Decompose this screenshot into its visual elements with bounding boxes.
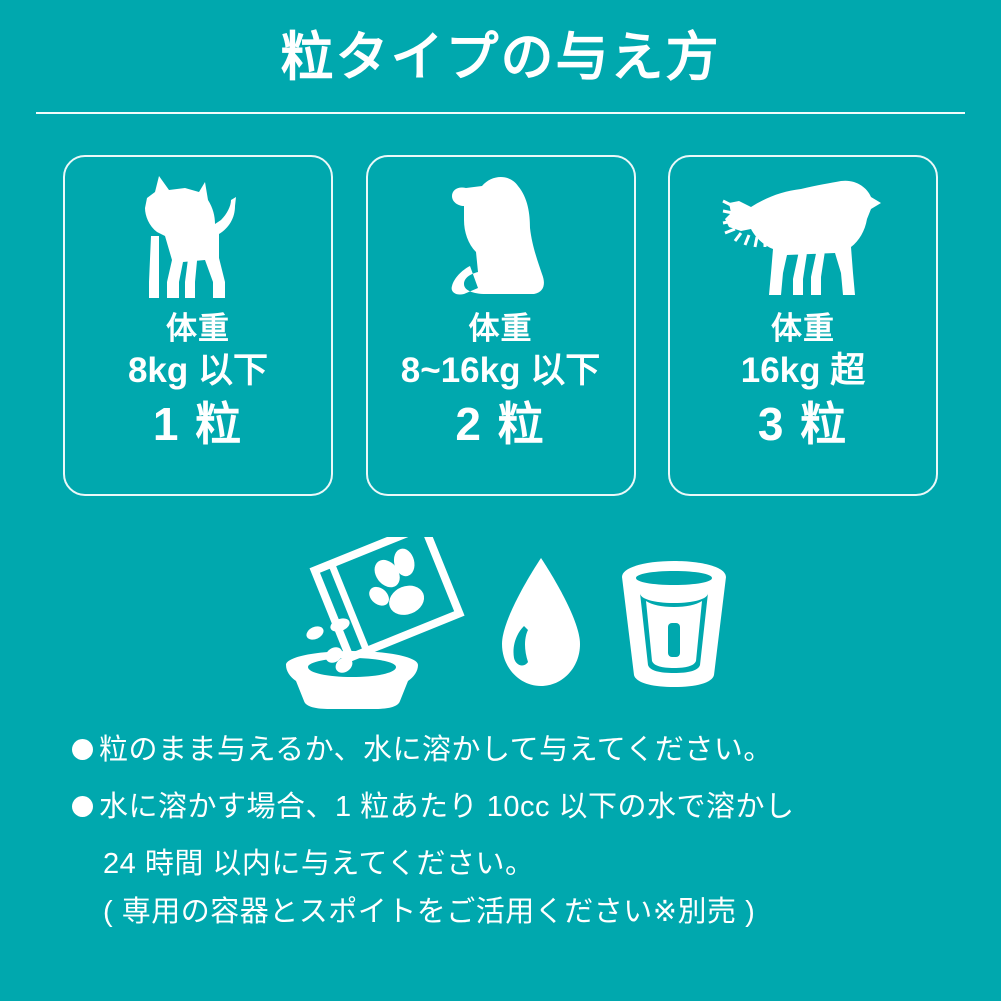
card-label: 体重 [771, 309, 835, 349]
card-dose: 2 粒 [455, 395, 545, 453]
note-item: 水に溶かす場合、1 粒あたり 10cc 以下の水で溶かし [72, 783, 952, 831]
dosage-card-small-dog: 体重 8kg 以下 1 粒 [63, 155, 333, 496]
note-parenthetical: ( 専用の容器とスポイトをご活用ください※別売 ) [103, 888, 952, 936]
note-text: 水に溶かす場合、1 粒あたり 10cc 以下の水で溶かし [99, 783, 795, 831]
card-weight: 16kg 超 [741, 349, 866, 393]
infographic-page: 粒タイプの与え方 体重 8kg 以下 1 粒 体重 8~16kg 以下 2 粒 [0, 0, 1001, 1001]
card-label: 体重 [469, 309, 533, 349]
notes-list: 粒のまま与えるか、水に溶かして与えてください。 水に溶かす場合、1 粒あたり 1… [72, 726, 952, 936]
small-dog-standing-icon [65, 157, 331, 309]
card-weight: 8kg 以下 [128, 349, 268, 393]
card-dose: 1 粒 [153, 395, 243, 453]
card-dose: 3 粒 [758, 395, 848, 453]
water-glass-icon [614, 559, 734, 689]
usage-icon-row [0, 534, 1001, 714]
card-label: 体重 [166, 309, 230, 349]
title-divider [36, 112, 965, 114]
card-weight: 8~16kg 以下 [401, 349, 600, 393]
note-item: 粒のまま与えるか、水に溶かして与えてください。 [72, 726, 952, 774]
bullet-icon [72, 796, 93, 817]
water-droplet-icon [494, 554, 588, 694]
large-dog-standing-icon [670, 157, 936, 309]
bullet-icon [72, 739, 93, 760]
dosage-card-medium-dog: 体重 8~16kg 以下 2 粒 [366, 155, 636, 496]
note-text: 粒のまま与えるか、水に溶かして与えてください。 [99, 726, 773, 774]
food-packet-pouring-into-bowl-icon [268, 537, 468, 712]
note-continuation: 24 時間 以内に与えてください。 [103, 840, 952, 888]
dosage-card-list: 体重 8kg 以下 1 粒 体重 8~16kg 以下 2 粒 [63, 155, 938, 496]
dosage-card-large-dog: 体重 16kg 超 3 粒 [668, 155, 938, 496]
page-title: 粒タイプの与え方 [0, 26, 1001, 90]
medium-dog-sitting-icon [368, 157, 634, 309]
